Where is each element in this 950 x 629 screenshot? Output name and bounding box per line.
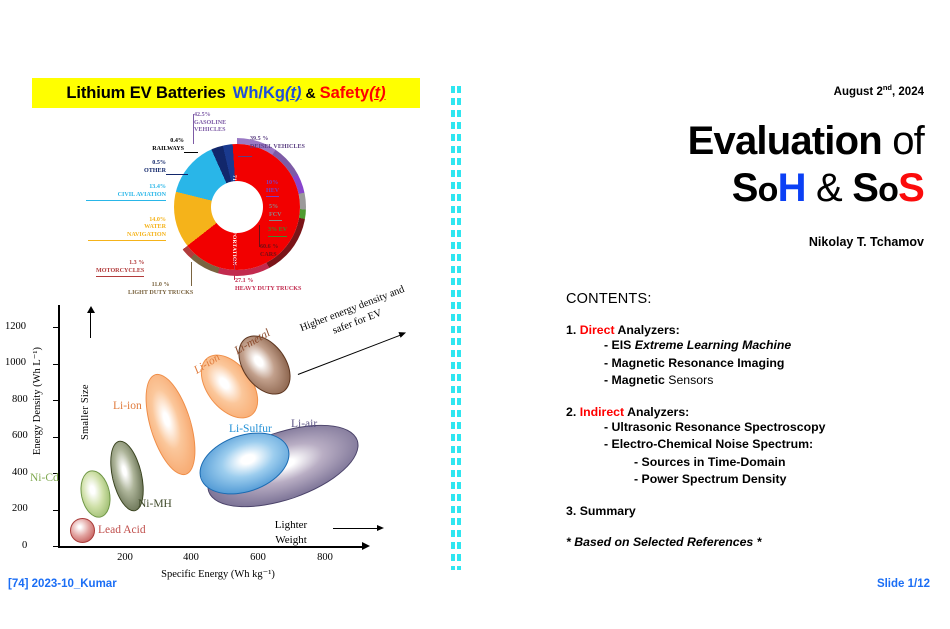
pie-label-light-duty-trucks: 11.0 %LIGHT DUTY TRUCKS — [128, 282, 193, 297]
banner-text-safety-t: (t) — [369, 84, 385, 103]
annotation-smaller-size: Smaller Size — [80, 335, 91, 440]
contents-heading: CONTENTS: — [566, 291, 926, 307]
xtick-400: 400 — [183, 552, 199, 563]
reference-text: 2023-10_Kumar — [32, 578, 117, 590]
banner-text-whkg: Wh/Kg — [233, 84, 285, 103]
pie-leader-railways — [184, 152, 198, 153]
xtick-800: 800 — [317, 552, 333, 563]
slide-title-banner: Lithium EV Batteries Wh/Kg(t) & Safety(t… — [32, 78, 420, 108]
contents-section-3: 3. Summary — [566, 504, 926, 518]
bubble-label-li-air: Li-air — [291, 418, 317, 430]
pie-leader-light — [191, 262, 192, 286]
pie-label-fcv: 5%FCV — [269, 204, 282, 221]
lighter-weight-arrow-icon — [333, 528, 378, 529]
ytick-600: 600 — [12, 430, 428, 441]
banner-text-whkg-t: (t) — [285, 84, 301, 103]
presentation-date: August 2nd, 2024 — [834, 83, 924, 98]
pie-leader-gasoline — [193, 114, 194, 144]
bubble-label-li-sulfur: Li-Sulfur — [229, 423, 272, 435]
contents-list: CONTENTS: 1. Direct Analyzers: - EIS Ext… — [566, 291, 926, 549]
xtick-200: 200 — [117, 552, 133, 563]
contents-footnote: * Based on Selected References * — [566, 535, 926, 549]
title-line-2: SoH & SoS — [688, 165, 924, 214]
pie-label-cars: 60.6 %CARS — [260, 244, 278, 259]
pie-leader-cars — [259, 225, 260, 247]
pie-label-motorcycles: 1.3 %MOTORCYCLES — [96, 260, 144, 277]
reference-tag: [74] — [8, 578, 28, 590]
pie-label-hev: 10%HEV — [266, 180, 279, 197]
vertical-dashed-divider — [451, 86, 463, 570]
bubble-label-lead-acid: Lead Acid — [98, 524, 146, 536]
contents-item-power-spectrum-density: - Power Spectrum Density — [634, 471, 926, 489]
pie-label-heavy-duty-trucks: 27.1 %HEAVY DUTY TRUCKS — [235, 278, 301, 293]
bubble-label-li-ion-low: Li-ion — [113, 400, 142, 412]
donut-center-label: 71.7% ROAD TRANSPORTATION — [230, 175, 237, 266]
pie-leader-heavy — [234, 258, 235, 280]
donut-hole — [211, 181, 263, 233]
banner-text-safety: Safety — [320, 84, 370, 103]
xtick-600: 600 — [250, 552, 266, 563]
slide-canvas: Lithium EV Batteries Wh/Kg(t) & Safety(t… — [0, 0, 950, 629]
banner-text-lithium: Lithium EV Batteries — [66, 84, 225, 103]
contents-item-ultrasonic: - Ultrasonic Resonance Spectroscopy — [604, 419, 926, 437]
contents-item-sources-time-domain: - Sources in Time-Domain — [634, 454, 926, 472]
slide-number: Slide 1/12 — [877, 578, 930, 590]
contents-item-ecn-spectrum: - Electro-Chemical Noise Spectrum: — [604, 436, 926, 454]
chart-y-axis-label: Energy Density (Wh L⁻¹) — [31, 326, 43, 476]
annotation-lighter-weight: LighterWeight — [256, 518, 326, 548]
pie-leader-deisel — [238, 156, 252, 157]
contents-item-eis: - EIS Extreme Learning Machine — [604, 337, 926, 355]
chart-x-axis-label: Specific Energy (Wh kg⁻¹) — [118, 568, 318, 580]
pie-label-civil-aviation: 13.4%CIVIL AVIATION — [86, 184, 166, 201]
pie-leader-other — [166, 174, 188, 175]
bubble-li-ion-low — [136, 368, 206, 480]
reference-citation[interactable]: [74] 2023-10_Kumar — [8, 578, 117, 590]
contents-item-mri: - Magnetic Resonance Imaging — [604, 355, 926, 373]
ytick-200: 200 — [12, 503, 428, 514]
pie-label-other: 0.5%OTHER — [110, 160, 166, 175]
page-title: Evaluation of SoH & SoS — [688, 118, 924, 214]
contents-section-1: 1. Direct Analyzers: — [566, 323, 926, 337]
pie-label-water-navigation: 14.0%WATERNAVIGATION — [88, 217, 166, 241]
bubble-label-ni-mh: Ni-MH — [138, 498, 172, 510]
author-name: Nikolay T. Tchamov — [809, 235, 924, 249]
pie-label-ev: 3% EV — [268, 227, 287, 237]
energy-density-bubble-chart: 0 200 400 600 800 1000 1200 200 400 600 … — [8, 300, 428, 600]
pie-label-gasoline-vehicles: 42.5%GASOLINE VEHICLES — [194, 112, 232, 135]
contents-section-2: 2. Indirect Analyzers: — [566, 405, 926, 419]
contents-item-magnetic-sensors: - Magnetic Sensors — [604, 372, 926, 390]
transport-energy-donut-chart: 71.7% ROAD TRANSPORTATION 42.5%GASOLINE … — [88, 112, 428, 307]
banner-ampersand: & — [305, 85, 315, 101]
pie-label-railways: 0.4%RAILWAYS — [128, 138, 184, 153]
bubble-label-ni-cd: Ni-Cd — [30, 472, 59, 484]
pie-label-deisel-vehicles: 39.5 %DEISEL VEHICLES — [250, 136, 305, 151]
bubble-lead-acid — [70, 518, 95, 543]
title-line-1: Evaluation of — [688, 118, 924, 165]
